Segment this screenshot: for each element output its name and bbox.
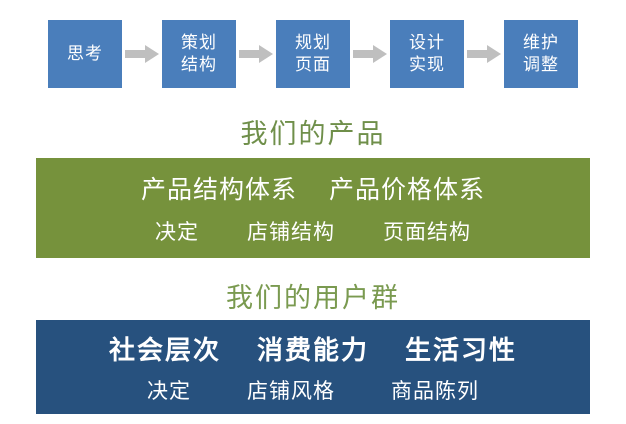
arrow-right-icon (122, 20, 162, 88)
flow-step-4-line-2: 实现 (409, 54, 445, 76)
products-caption: 我们的产品 (0, 112, 626, 151)
users-sub-item-1: 决定 (147, 375, 191, 405)
arrow-right-icon (464, 20, 504, 88)
flow-step-5-line-1: 维护 (523, 32, 559, 54)
flow-step-2-line-1: 策划 (181, 32, 217, 54)
users-panel: 社会层次 消费能力 生活习性 决定 店铺风格 商品陈列 (36, 320, 590, 414)
products-sub-item-2: 店铺结构 (247, 216, 335, 246)
flow-step-5-line-2: 调整 (523, 54, 559, 76)
users-main-row: 社会层次 消费能力 生活习性 (36, 330, 590, 367)
flow-step-3-line-2: 页面 (295, 54, 331, 76)
flow-step-1-line-1: 思考 (67, 43, 103, 65)
diagram-canvas: 思考 策划 结构 规划 页面 设计 实现 (0, 0, 626, 424)
arrow-right-icon (350, 20, 390, 88)
flow-step-1: 思考 (48, 20, 122, 88)
products-sub-row: 决定 店铺结构 页面结构 (36, 216, 590, 246)
flow-step-2-line-2: 结构 (181, 54, 217, 76)
products-main-row: 产品结构体系 产品价格体系 (36, 170, 590, 206)
process-flow-row: 思考 策划 结构 规划 页面 设计 实现 (0, 12, 626, 96)
flow-step-4: 设计 实现 (390, 20, 464, 88)
users-main-item-3: 生活习性 (405, 330, 517, 367)
products-sub-item-3: 页面结构 (383, 216, 471, 246)
users-sub-item-3: 商品陈列 (391, 375, 479, 405)
users-caption: 我们的用户群 (0, 276, 626, 315)
flow-step-3-line-1: 规划 (295, 32, 331, 54)
users-main-item-2: 消费能力 (257, 330, 369, 367)
products-panel: 产品结构体系 产品价格体系 决定 店铺结构 页面结构 (36, 158, 590, 258)
users-main-item-1: 社会层次 (109, 330, 221, 367)
flow-step-2: 策划 结构 (162, 20, 236, 88)
flow-step-5: 维护 调整 (504, 20, 578, 88)
arrow-right-icon (236, 20, 276, 88)
flow-step-4-line-1: 设计 (409, 32, 445, 54)
products-main-item-1: 产品结构体系 (141, 170, 297, 206)
products-main-item-2: 产品价格体系 (329, 170, 485, 206)
users-sub-item-2: 店铺风格 (247, 375, 335, 405)
users-sub-row: 决定 店铺风格 商品陈列 (36, 375, 590, 405)
flow-step-3: 规划 页面 (276, 20, 350, 88)
products-sub-item-1: 决定 (155, 216, 199, 246)
